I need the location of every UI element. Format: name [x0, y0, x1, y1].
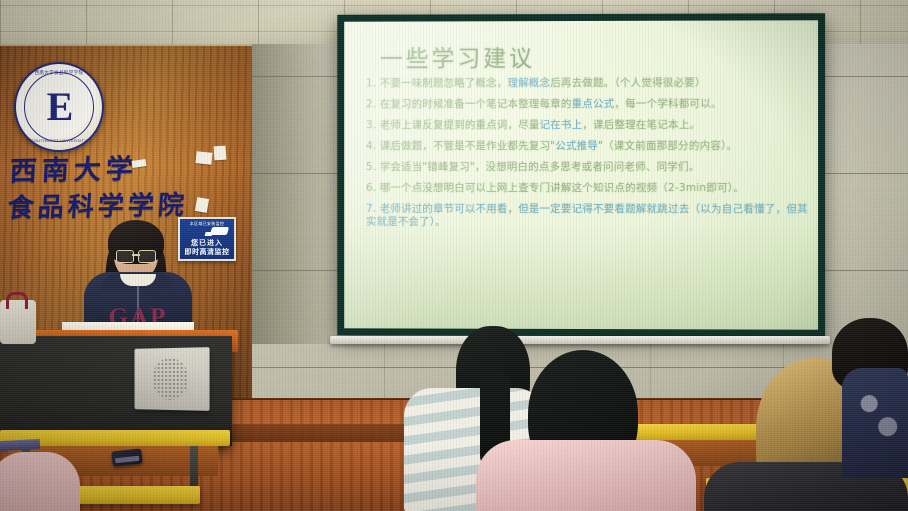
slide-title: 一些学习建议: [380, 39, 535, 73]
notebook: [0, 439, 40, 451]
student-far-left-body: [0, 452, 80, 511]
glasses-left-lens: [116, 250, 134, 263]
slide-line: 2. 在复习的时候准备一个笔记本整理每章的重点公式，每一个学科都可以。: [366, 98, 808, 112]
projection-screen-roller: [330, 336, 830, 344]
smartphone: [111, 448, 142, 466]
handbag: [0, 300, 36, 344]
slide-line-highlight: "公式推导": [550, 140, 603, 152]
slide-line-highlight: 记在书上: [540, 119, 583, 131]
lectern-computer-unit: [134, 347, 209, 411]
slide-line: 4. 课后做题，不管是不是作业都先复习"公式推导"（课文前面那部分的内容）。: [366, 140, 808, 153]
shirt-pattern: [856, 382, 900, 454]
slide-line-number: 2.: [366, 98, 376, 110]
slide-line: 7. 老师讲过的章节可以不用看，但是一定要记得不要看题解就跳过去（以为自己看懂了…: [366, 203, 808, 229]
wall-tape-mark: [214, 146, 227, 161]
speaker-vent-icon: [153, 358, 188, 400]
slide-line: 3. 老师上课反复提到的重点词，尽量记在书上，课后整理在笔记本上。: [366, 119, 808, 132]
slide-line-highlight: 重点公式: [572, 98, 615, 110]
slide-line-number: 3.: [366, 119, 376, 131]
security-camera-icon: [210, 227, 229, 235]
slide-line: 6. 哪一个点没想明白可以上网上查专门讲解这个知识点的视频（2-3min即可）。: [366, 182, 808, 195]
slide-line-text: 在复习的时候准备一个笔记本整理每章的: [380, 98, 572, 110]
slide-line-number: 7.: [366, 203, 376, 215]
wall-text-college: 食品科学学院: [7, 184, 190, 224]
bag-handle: [6, 292, 28, 309]
slide-line-number: 6.: [366, 182, 376, 194]
wall-tape-mark: [195, 151, 212, 165]
presenter-glasses-icon: [116, 250, 156, 261]
glasses-right-lens: [138, 250, 156, 263]
emblem-mark: E: [38, 84, 82, 130]
slide-line: 5. 学会适当"错峰复习"，没想明白的点多思考或者问问老师、同学们。: [366, 161, 808, 174]
slide-line-number: 5.: [366, 161, 376, 173]
emblem-bottom-text: SOUTHWEST UNIVERSITY: [16, 138, 102, 143]
classroom-photo: 西南大学食品科学学院 E SOUTHWEST UNIVERSITY 西南大学 食…: [0, 0, 908, 511]
slide-line-text: 课后做题，不管是不是作业都先复习: [380, 140, 550, 152]
slide-line-highlight: 以为自己看懂了: [700, 203, 775, 215]
university-emblem-icon: 西南大学食品科学学院 E SOUTHWEST UNIVERSITY: [14, 62, 104, 152]
slide-line-text: 学会适当"错峰复习"，没想明白的点多思考或者问问老师、同学们。: [380, 161, 700, 173]
projected-slide: 一些学习建议 1. 不要一味制题忽略了概念，理解概念后再去做题。（个人觉得很必要…: [344, 20, 818, 329]
sign-line-2: 即时高清监控: [180, 247, 234, 257]
slide-line-text: 老师上课反复提到的重点词，尽量: [380, 119, 540, 131]
wall-shadow-strip: [252, 44, 342, 344]
student-pink-hoodie-body: [476, 440, 696, 511]
slide-line-tail: 后再去做题。（个人觉得很必要）: [550, 77, 705, 89]
emblem-top-text: 西南大学食品科学学院: [16, 70, 102, 76]
slide-line-highlight: 理解概念: [508, 77, 551, 89]
slide-line-tail: ，课后整理在笔记本上。: [582, 119, 700, 131]
slide-line: 1. 不要一味制题忽略了概念，理解概念后再去做题。（个人觉得很必要）: [366, 77, 808, 91]
slide-line-tail: ，每一个学科都可以。: [614, 98, 721, 110]
slide-line-text: 不要一味制题忽略了概念，: [380, 77, 508, 89]
slide-line-text: 老师讲过的章节可以不用看，但是一定要记得不要看题解就跳过去（: [380, 203, 700, 215]
slide-line-number: 1.: [366, 77, 376, 89]
slide-line-tail: （课文前面那部分的内容）。: [603, 140, 737, 152]
slide-line-text: 哪一个点没想明白可以上网上查专门讲解这个知识点的视频（2-3min即可）。: [380, 182, 744, 194]
wall-tape-mark: [195, 197, 209, 213]
desk-leg: [190, 446, 198, 490]
slide-line-number: 4.: [366, 140, 376, 152]
surveillance-sign: 本区域已安装监控 您已进入 即时高清监控: [178, 217, 236, 261]
projection-screen-frame: 一些学习建议 1. 不要一味制题忽略了概念，理解概念后再去做题。（个人觉得很必要…: [337, 13, 825, 337]
slide-body: 1. 不要一味制题忽略了概念，理解概念后再去做题。（个人觉得很必要） 2. 在复…: [366, 77, 808, 238]
wall-text-university: 西南大学: [9, 147, 139, 189]
